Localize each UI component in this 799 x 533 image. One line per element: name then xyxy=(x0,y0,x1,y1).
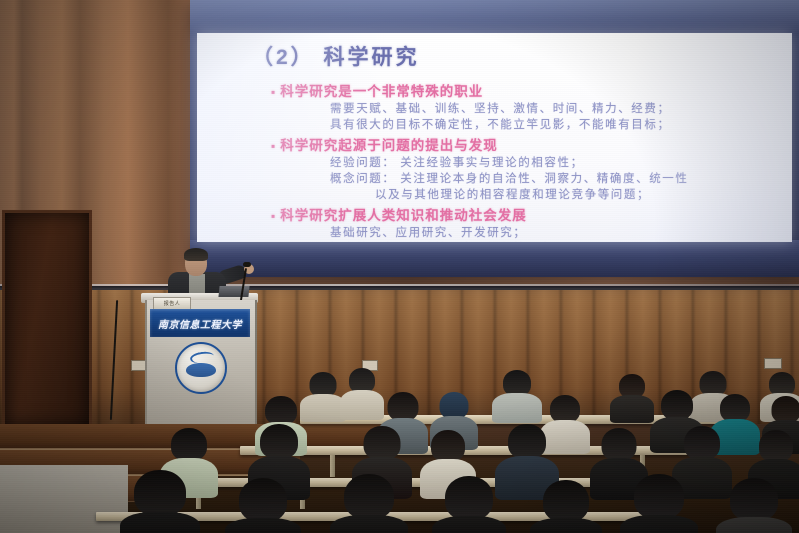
slide-subline: 具有很大的目标不确定性，不能立竿见影，不能唯有目标； xyxy=(330,116,671,132)
bullet-dot-icon: ▪ xyxy=(271,139,276,153)
slide-bullet-heading: ▪科学研究扩展人类知识和推动社会发展 xyxy=(271,204,527,224)
slide-subline: 经验问题： 关注经验事实与理论的相容性； xyxy=(330,154,584,170)
light-switch-panel[interactable] xyxy=(764,358,782,369)
audience-member xyxy=(492,370,542,420)
audience-member xyxy=(330,474,408,533)
audience-member xyxy=(610,374,654,420)
slide-bullet-heading: ▪科学研究起源于问题的提出与发现 xyxy=(271,134,498,154)
podium-institution-text: 南京信息工程大学 xyxy=(158,316,242,331)
audience-member xyxy=(120,470,200,533)
slide-title: （2） 科学研究 xyxy=(252,41,420,71)
aisle-floor xyxy=(0,465,128,533)
audience-member xyxy=(620,474,698,533)
audience-member xyxy=(530,480,602,533)
screen-lower-band xyxy=(190,240,799,277)
podium-institution-plate: 南京信息工程大学 xyxy=(150,309,250,337)
bullet-dot-icon: ▪ xyxy=(271,85,276,99)
speaker-hair xyxy=(184,248,208,261)
slide-subline: 探索性研究、描述性研究、解释性研究。 xyxy=(330,240,566,242)
screen-top-glow xyxy=(190,0,799,34)
university-wave-emblem-icon xyxy=(175,342,227,394)
bullet-dot-icon: ▪ xyxy=(271,209,276,223)
presentation-slide: （2） 科学研究 ▪科学研究是一个非常特殊的职业 需要天赋、基础、训练、坚持、激… xyxy=(197,33,792,242)
slide-subline: 以及与其他理论的相容程度和理论竞争等问题； xyxy=(375,186,650,202)
audience-member xyxy=(225,478,301,533)
slide-bullet-heading: ▪科学研究是一个非常特殊的职业 xyxy=(271,80,483,100)
audience-member xyxy=(716,478,792,533)
audience-member xyxy=(432,476,506,533)
lecture-hall-photo: （2） 科学研究 ▪科学研究是一个非常特殊的职业 需要天赋、基础、训练、坚持、激… xyxy=(0,0,799,533)
side-exit-door[interactable] xyxy=(2,210,92,425)
slide-subline: 概念问题： 关注理论本身的自洽性、洞察力、精确度、统一性 xyxy=(330,170,689,186)
slide-subline: 基础研究、应用研究、开发研究； xyxy=(330,224,527,240)
microphone-icon xyxy=(243,262,251,267)
podium-laptop xyxy=(218,286,249,297)
slide-subline: 需要天赋、基础、训练、坚持、激情、时间、精力、经费； xyxy=(330,100,671,116)
